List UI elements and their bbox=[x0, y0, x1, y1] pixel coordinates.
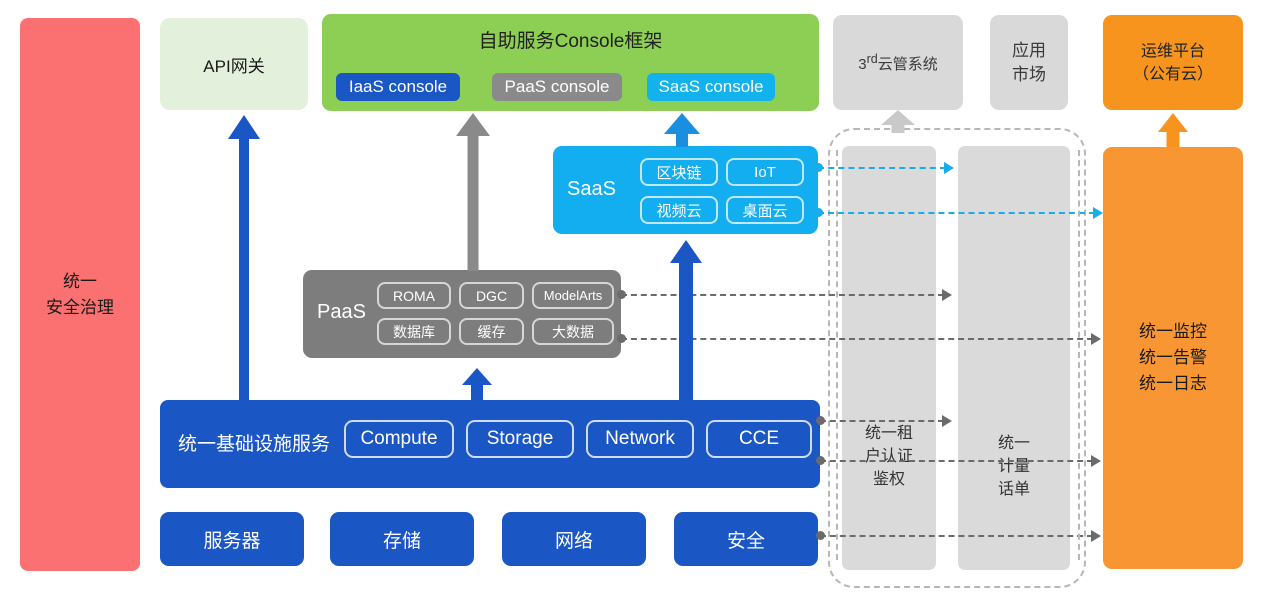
saas-service-label: IoT bbox=[754, 164, 776, 181]
saas-service-iot[interactable]: IoT bbox=[726, 158, 804, 186]
infra-service-label: Compute bbox=[360, 428, 437, 450]
connector-infra-to-auth bbox=[820, 420, 944, 422]
shared-guide-left bbox=[836, 150, 838, 560]
connector-arrowhead-saas-auth bbox=[944, 162, 954, 174]
resource-box-server: 服务器 bbox=[160, 512, 304, 566]
paas-service-modelarts[interactable]: ModelArts bbox=[532, 282, 614, 309]
paas-service-database[interactable]: 数据库 bbox=[377, 318, 451, 345]
third-party-cloud-label: 3rd云管系统 bbox=[858, 52, 937, 74]
ops-platform-line1: 运维平台 bbox=[1133, 40, 1213, 63]
monitor-line1: 统一监控 bbox=[1139, 319, 1207, 345]
monitoring-band: 统一监控 统一告警 统一日志 bbox=[1103, 147, 1243, 569]
paas-service-label: DGC bbox=[476, 288, 507, 304]
monitor-line3: 统一日志 bbox=[1139, 371, 1207, 397]
paas-service-label: ModelArts bbox=[544, 288, 603, 303]
resource-box-network: 网络 bbox=[502, 512, 646, 566]
saas-service-label: 区块链 bbox=[656, 162, 701, 183]
infra-service-label: Network bbox=[605, 428, 675, 450]
resource-label: 存储 bbox=[383, 526, 421, 553]
security-governance-band: 统一 安全治理 bbox=[20, 18, 140, 571]
app-market-line2: 市场 bbox=[1012, 63, 1046, 87]
arrow-monitor-to-ops-platform bbox=[1157, 113, 1189, 147]
paas-service-label: 大数据 bbox=[552, 322, 594, 342]
arrow-infra-to-paas bbox=[462, 368, 492, 402]
connector-arrowhead-infra-auth bbox=[942, 415, 952, 427]
resource-label: 服务器 bbox=[203, 526, 260, 553]
connector-arrowhead-paas-monitor bbox=[1091, 333, 1101, 345]
app-market-box: 应用 市场 bbox=[990, 15, 1068, 110]
monitor-line2: 统一告警 bbox=[1139, 345, 1207, 371]
auth-line1: 统一租 bbox=[842, 422, 936, 445]
connector-infra-to-monitor bbox=[820, 460, 1093, 462]
infrastructure-label: 统一基础设施服务 bbox=[178, 429, 330, 456]
saas-service-video-cloud[interactable]: 视频云 bbox=[640, 196, 718, 224]
arrow-paas-to-console bbox=[455, 113, 491, 271]
security-band-line2: 安全治理 bbox=[46, 295, 114, 321]
infra-service-network[interactable]: Network bbox=[586, 420, 694, 458]
meter-line3: 话单 bbox=[958, 478, 1070, 501]
iaas-console-chip[interactable]: IaaS console bbox=[336, 73, 460, 101]
shared-guide-right bbox=[1078, 150, 1080, 560]
connector-saas-to-monitor bbox=[818, 212, 1095, 214]
paas-service-label: 数据库 bbox=[393, 322, 435, 342]
paas-console-label: PaaS console bbox=[505, 77, 610, 97]
saas-service-label: 视频云 bbox=[656, 200, 701, 221]
app-market-line1: 应用 bbox=[1012, 39, 1046, 63]
paas-console-chip[interactable]: PaaS console bbox=[492, 73, 622, 101]
meter-line2: 计量 bbox=[958, 455, 1070, 478]
saas-service-desktop-cloud[interactable]: 桌面云 bbox=[726, 196, 804, 224]
arrow-infra-to-api-gateway bbox=[228, 115, 260, 401]
ops-platform-box: 运维平台 （公有云） bbox=[1103, 15, 1243, 110]
connector-arrowhead-infra-monitor bbox=[1091, 455, 1101, 467]
infra-service-storage[interactable]: Storage bbox=[466, 420, 574, 458]
meter-line1: 统一 bbox=[958, 432, 1070, 455]
saas-layer-label: SaaS bbox=[567, 178, 616, 201]
resource-label: 网络 bbox=[555, 526, 593, 553]
resource-box-security: 安全 bbox=[674, 512, 818, 566]
security-band-line1: 统一 bbox=[46, 269, 114, 295]
arrow-infra-to-saas bbox=[670, 240, 702, 402]
arrow-saas-to-console bbox=[664, 113, 700, 147]
resource-label: 安全 bbox=[727, 526, 765, 553]
infra-service-compute[interactable]: Compute bbox=[344, 420, 454, 458]
auth-line3: 鉴权 bbox=[842, 468, 936, 491]
paas-service-cache[interactable]: 缓存 bbox=[459, 318, 524, 345]
unified-metering-billing-column: 统一 计量 话单 bbox=[958, 146, 1070, 570]
saas-service-blockchain[interactable]: 区块链 bbox=[640, 158, 718, 186]
paas-service-roma[interactable]: ROMA bbox=[377, 282, 451, 309]
saas-console-label: SaaS console bbox=[659, 77, 764, 97]
saas-service-label: 桌面云 bbox=[742, 200, 787, 221]
arrow-shared-to-third-party-cloud bbox=[881, 110, 915, 133]
connector-resource-to-monitor bbox=[820, 535, 1093, 537]
connector-arrowhead-resource-monitor bbox=[1091, 530, 1101, 542]
paas-service-dgc[interactable]: DGC bbox=[459, 282, 524, 309]
paas-service-label: 缓存 bbox=[478, 322, 506, 342]
infra-service-cce[interactable]: CCE bbox=[706, 420, 812, 458]
paas-layer-label: PaaS bbox=[317, 301, 366, 324]
architecture-diagram: 统一 安全治理 API网关 自助服务Console框架 IaaS console… bbox=[0, 0, 1265, 605]
connector-arrowhead-saas-monitor bbox=[1093, 207, 1103, 219]
api-gateway-label: API网关 bbox=[203, 52, 264, 77]
connector-arrowhead-paas-auth bbox=[942, 289, 952, 301]
third-party-cloud-box: 3rd云管系统 bbox=[833, 15, 963, 110]
paas-service-bigdata[interactable]: 大数据 bbox=[532, 318, 614, 345]
unified-tenant-auth-column: 统一租 户认证 鉴权 bbox=[842, 146, 936, 570]
api-gateway-box: API网关 bbox=[160, 18, 308, 110]
ops-platform-line2: （公有云） bbox=[1133, 63, 1213, 86]
paas-service-label: ROMA bbox=[393, 288, 435, 304]
console-framework-title: 自助服务Console框架 bbox=[322, 26, 819, 53]
iaas-console-label: IaaS console bbox=[349, 77, 447, 97]
infra-service-label: CCE bbox=[739, 428, 779, 450]
saas-console-chip[interactable]: SaaS console bbox=[647, 73, 775, 101]
resource-box-storage: 存储 bbox=[330, 512, 474, 566]
infra-service-label: Storage bbox=[487, 428, 554, 450]
auth-line2: 户认证 bbox=[842, 445, 936, 468]
